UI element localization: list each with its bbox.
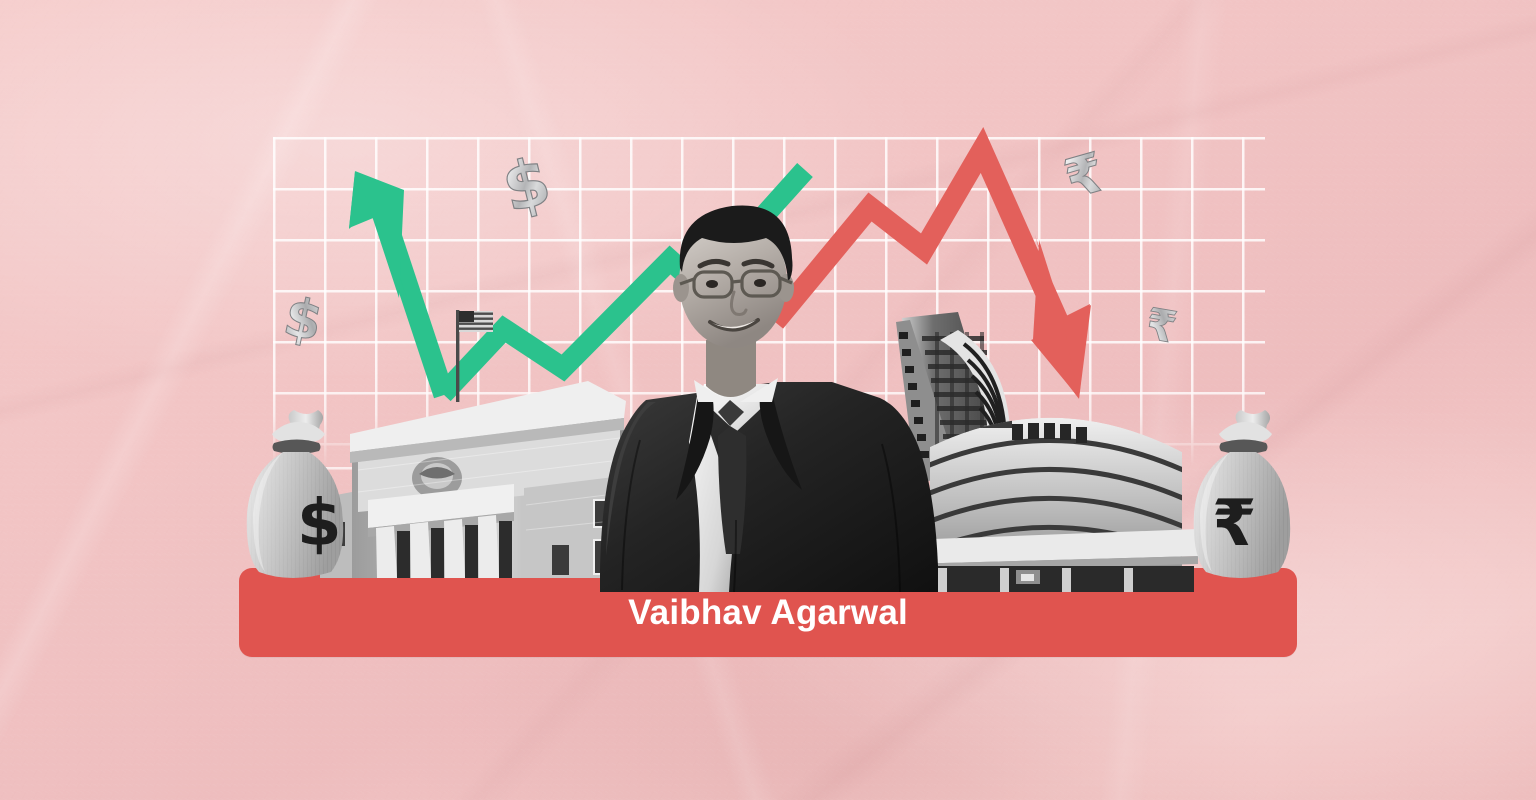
- person-cutout: [0, 0, 1536, 800]
- collage-canvas: $ $ ₹ ₹: [0, 0, 1536, 800]
- person-figure: [600, 205, 938, 592]
